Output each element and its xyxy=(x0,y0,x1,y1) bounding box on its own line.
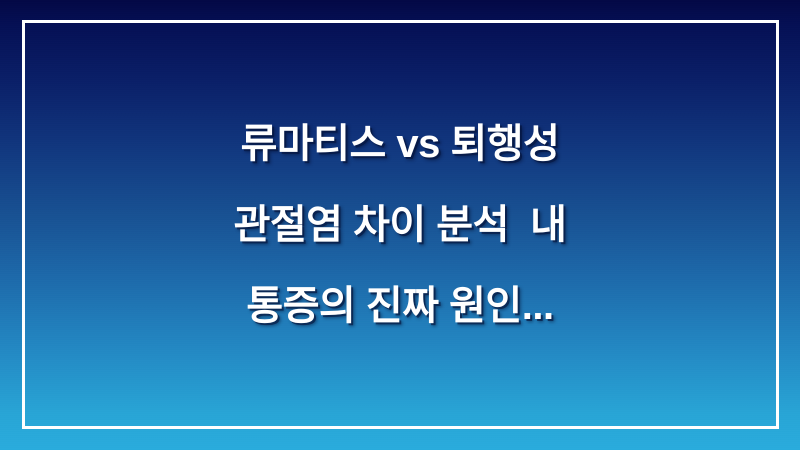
thumbnail-card: 류마티스 vs 퇴행성 관절염 차이 분석 내 통증의 진짜 원인... xyxy=(0,0,800,450)
title-line-1: 류마티스 vs 퇴행성 xyxy=(241,104,560,185)
title-line-3: 통증의 진짜 원인... xyxy=(246,266,553,347)
title-block: 류마티스 vs 퇴행성 관절염 차이 분석 내 통증의 진짜 원인... xyxy=(0,0,800,450)
title-line-2: 관절염 차이 분석 내 xyxy=(234,185,567,266)
